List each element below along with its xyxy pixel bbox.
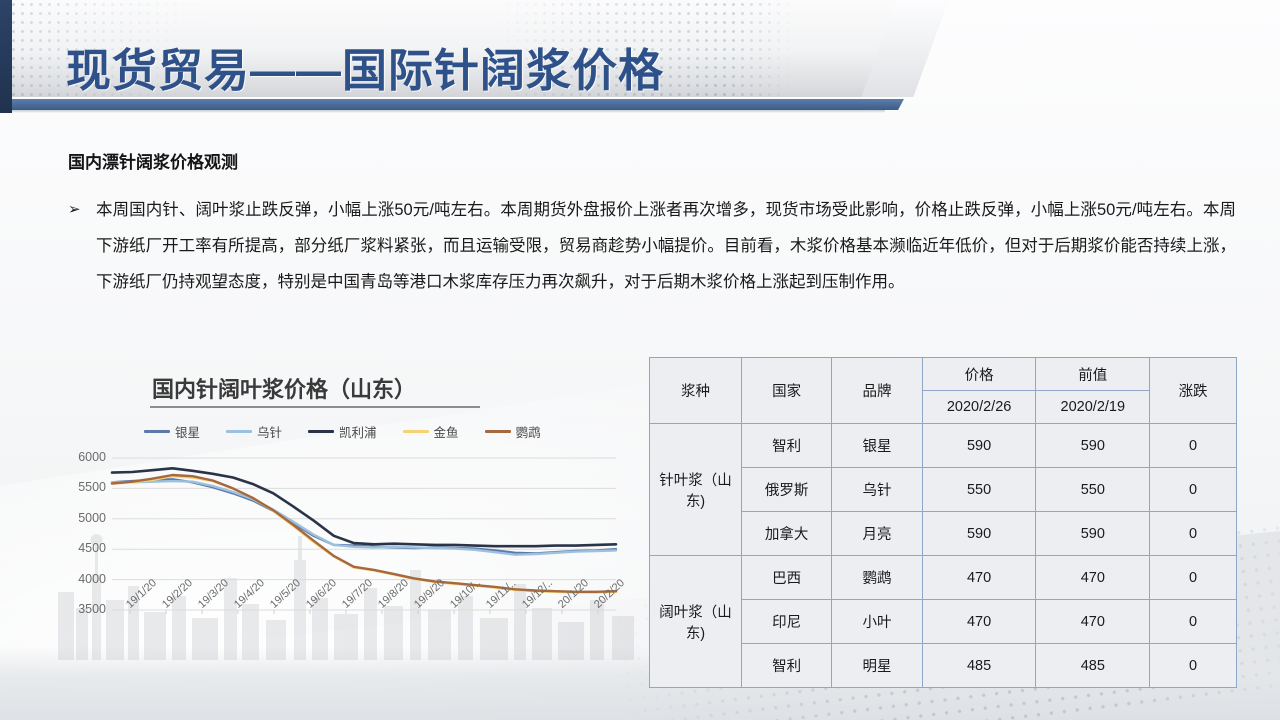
table-cell-prev: 485 (1036, 644, 1150, 688)
table-cell-price: 550 (922, 468, 1036, 512)
table-cell-price: 590 (922, 512, 1036, 556)
slide-canvas: 现货贸易——国际针阔浆价格 国内漂针阔浆价格观测 ➢ 本周国内针、阔叶浆止跌反弹… (0, 0, 1280, 720)
table-cell-change: 0 (1150, 644, 1237, 688)
legend-label: 凯利浦 (339, 422, 377, 441)
section-subheading: 国内漂针阔浆价格观测 (68, 148, 238, 173)
table-header-change: 涨跌 (1150, 358, 1237, 424)
legend-item-4: 鹦鹉 (485, 422, 541, 441)
table-cell-country: 智利 (741, 424, 831, 468)
table-header-prev: 前值 (1036, 358, 1150, 391)
table-header-brand: 品牌 (832, 358, 922, 424)
legend-swatch-icon (403, 430, 429, 433)
table-cell-country: 巴西 (741, 556, 831, 600)
legend-item-0: 银星 (144, 422, 200, 441)
legend-label: 银星 (175, 422, 200, 441)
table-header-price-date: 2020/2/26 (922, 391, 1036, 424)
chart-y-tick-label: 6000 (60, 450, 106, 464)
table-cell-prev: 470 (1036, 556, 1150, 600)
table-cell-price: 470 (922, 600, 1036, 644)
header-rule (0, 99, 885, 110)
legend-label: 鹦鹉 (516, 422, 541, 441)
table-cell-change: 0 (1150, 556, 1237, 600)
chart-title-underline (150, 406, 480, 408)
table-cell-group-label: 针叶浆（山东) (650, 424, 742, 556)
table-cell-price: 470 (922, 556, 1036, 600)
chart-series-line-0 (112, 479, 616, 553)
table-cell-change: 0 (1150, 600, 1237, 644)
body-paragraph: ➢ 本周国内针、阔叶浆止跌反弹，小幅上涨50元/吨左右。本周期货外盘报价上涨者再… (68, 192, 1236, 300)
table-header-country: 国家 (741, 358, 831, 424)
legend-item-2: 凯利浦 (308, 422, 377, 441)
legend-swatch-icon (308, 430, 334, 433)
table-cell-brand: 鹦鹉 (832, 556, 922, 600)
table-cell-country: 加拿大 (741, 512, 831, 556)
table-cell-change: 0 (1150, 512, 1237, 556)
legend-swatch-icon (485, 430, 511, 433)
table-cell-brand: 明星 (832, 644, 922, 688)
table-cell-change: 0 (1150, 468, 1237, 512)
chart-legend: 银星乌针凯利浦金鱼鹦鹉 (144, 422, 541, 441)
table-cell-country: 俄罗斯 (741, 468, 831, 512)
legend-swatch-icon (226, 430, 252, 433)
table-row: 阔叶浆（山东)巴西鹦鹉4704700 (650, 556, 1237, 600)
table-cell-brand: 银星 (832, 424, 922, 468)
legend-item-1: 乌针 (226, 422, 282, 441)
table-cell-group-label: 阔叶浆（山东) (650, 556, 742, 688)
chart-y-tick-label: 4500 (60, 541, 106, 555)
chart-series-line-3 (112, 476, 616, 592)
chart-series-line-4 (112, 475, 616, 592)
chart-y-tick-label: 5500 (60, 480, 106, 494)
price-line-chart: 国内针阔叶浆价格（山东） 银星乌针凯利浦金鱼鹦鹉 600055005000450… (60, 360, 620, 660)
table-header-row: 浆种国家品牌价格前值涨跌 (650, 358, 1237, 391)
table-cell-price: 590 (922, 424, 1036, 468)
table-cell-country: 印尼 (741, 600, 831, 644)
body-paragraph-text: 本周国内针、阔叶浆止跌反弹，小幅上涨50元/吨左右。本周期货外盘报价上涨者再次增… (96, 192, 1236, 300)
header-rule-shadow (0, 110, 885, 113)
chart-title: 国内针阔叶浆价格（山东） (152, 372, 416, 404)
table-header-price: 价格 (922, 358, 1036, 391)
chart-x-axis: 19/1/2019/2/2019/3/2019/4/2019/5/2019/6/… (60, 600, 620, 660)
page-title: 现货贸易——国际针阔浆价格 (66, 34, 664, 99)
table-cell-change: 0 (1150, 424, 1237, 468)
table-header-prev-date: 2020/2/19 (1036, 391, 1150, 424)
table-cell-price: 485 (922, 644, 1036, 688)
table-cell-brand: 小叶 (832, 600, 922, 644)
table-row: 针叶浆（山东)智利银星5905900 (650, 424, 1237, 468)
table-cell-prev: 590 (1036, 424, 1150, 468)
pulp-price-table: 浆种国家品牌价格前值涨跌2020/2/262020/2/19针叶浆（山东)智利银… (649, 357, 1237, 688)
table-cell-brand: 月亮 (832, 512, 922, 556)
legend-label: 乌针 (257, 422, 282, 441)
table-header-pulp-type: 浆种 (650, 358, 742, 424)
chart-series-line-2 (112, 468, 616, 546)
table-cell-country: 智利 (741, 644, 831, 688)
table-cell-prev: 590 (1036, 512, 1150, 556)
chart-y-tick-label: 4000 (60, 572, 106, 586)
chart-y-tick-label: 5000 (60, 511, 106, 525)
header-left-accent-bar (0, 0, 12, 113)
legend-label: 金鱼 (434, 422, 459, 441)
bullet-arrow-icon: ➢ (68, 192, 96, 228)
legend-swatch-icon (144, 430, 170, 433)
table-cell-prev: 470 (1036, 600, 1150, 644)
table-cell-brand: 乌针 (832, 468, 922, 512)
legend-item-3: 金鱼 (403, 422, 459, 441)
table-cell-prev: 550 (1036, 468, 1150, 512)
